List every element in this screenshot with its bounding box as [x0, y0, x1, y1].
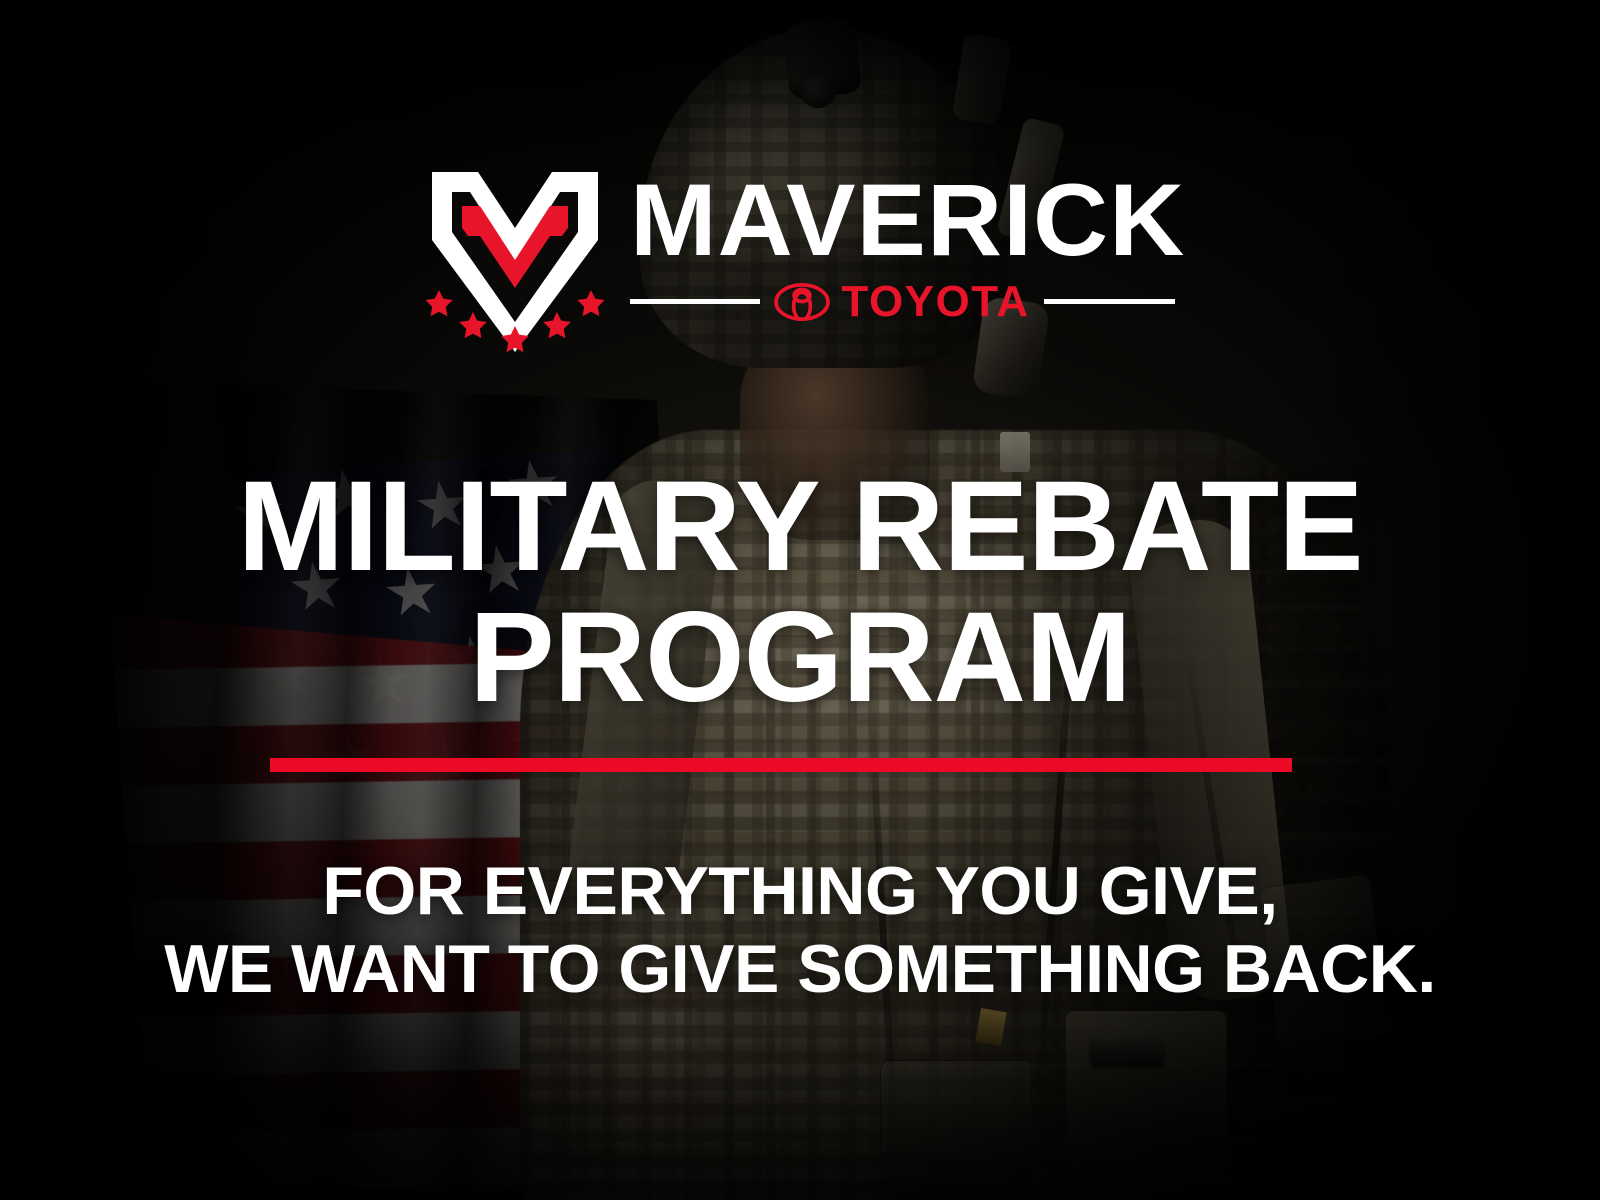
tagline-line-2: WE WANT TO GIVE SOMETHING BACK. — [0, 930, 1600, 1008]
banner-content: MAVERICK TOYOTA MILITARY — [0, 0, 1600, 1200]
toyota-sub-lockup: TOYOTA — [630, 280, 1175, 324]
toyota-ellipse-logo — [774, 283, 830, 321]
headline-line-2: PROGRAM — [0, 593, 1600, 724]
maverick-chevron-shield-emblem — [426, 166, 604, 362]
lockup-rule-right — [1044, 299, 1175, 304]
brand-name-maverick: MAVERICK — [630, 178, 1186, 264]
tagline-line-1: FOR EVERYTHING YOU GIVE, — [322, 853, 1277, 929]
tagline: FOR EVERYTHING YOU GIVE, WE WANT TO GIVE… — [0, 852, 1600, 1008]
red-divider-rule — [270, 758, 1292, 772]
brand-wordmark: MAVERICK TOYOTA — [630, 166, 1175, 324]
lockup-rule-left — [630, 299, 761, 304]
headline-line-1: MILITARY REBATE — [237, 455, 1362, 598]
promo-banner: MAVERICK TOYOTA MILITARY — [0, 0, 1600, 1200]
toyota-label: TOYOTA — [841, 280, 1029, 324]
toyota-brand-group: TOYOTA — [774, 280, 1029, 324]
page-title: MILITARY REBATE PROGRAM — [0, 462, 1600, 723]
brand-lockup[interactable]: MAVERICK TOYOTA — [0, 166, 1600, 362]
